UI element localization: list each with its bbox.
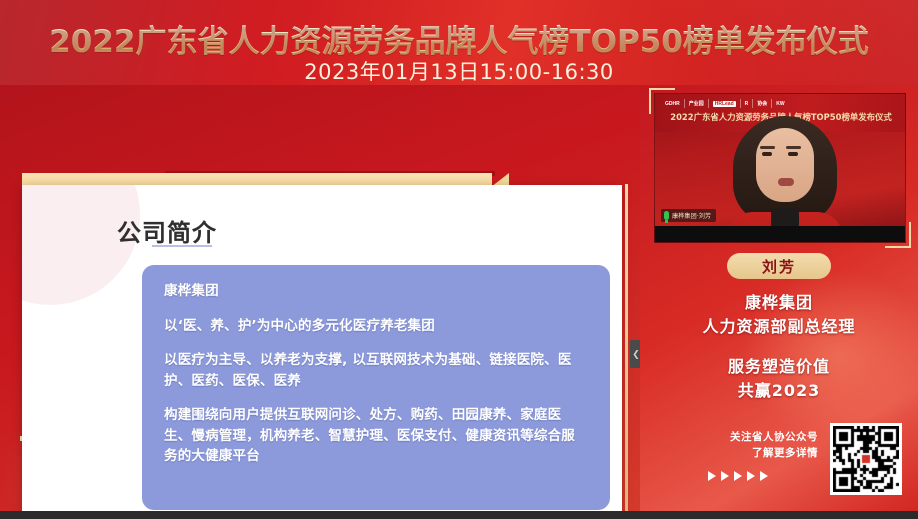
- portrait-face: [756, 128, 814, 202]
- event-slogan-line2: 共赢2023: [640, 377, 918, 401]
- qr-code[interactable]: [830, 423, 902, 495]
- speaker-video-frame[interactable]: GDHR 产业园 HRLead R 协会 KW 2022广东省人力资源劳务品牌人…: [654, 93, 906, 243]
- qr-code-canvas: [833, 426, 899, 492]
- speaker-mic-label: 康桦集团·刘芳: [661, 209, 716, 222]
- video-bottom-bar: [655, 226, 906, 242]
- slide-pane: 公司简介 康桦集团 以‘医、养、护’为中心的多元化医疗养老集团 以医疗为主导、以…: [0, 85, 640, 519]
- event-datetime: 2023年01月13日15:00-16:30: [0, 56, 918, 85]
- video-logo-association: 协会: [757, 100, 767, 107]
- presentation-slide[interactable]: 公司简介 康桦集团 以‘医、养、护’为中心的多元化医疗养老集团 以医疗为主导、以…: [22, 185, 622, 519]
- slide-content-box: 康桦集团 以‘医、养、护’为中心的多元化医疗养老集团 以医疗为主导、以养老为支撑…: [142, 265, 610, 510]
- video-banner-logos: GDHR 产业园 HRLead R 协会 KW: [665, 97, 897, 110]
- qr-instruction-text: 关注省人协公众号 了解更多详情: [658, 430, 818, 462]
- slide-title-underline: [152, 245, 212, 247]
- portrait-brow-right: [786, 146, 801, 149]
- video-logo-divider: [708, 99, 709, 108]
- microphone-icon: [664, 211, 669, 220]
- event-slogan-line1: 服务塑造价值: [640, 353, 918, 377]
- speaker-video[interactable]: GDHR 产业园 HRLead R 协会 KW 2022广东省人力资源劳务品牌人…: [654, 93, 906, 243]
- mic-label-text: 康桦集团·刘芳: [672, 211, 711, 220]
- video-logo-divider: [752, 99, 753, 108]
- speaker-pane: GDHR 产业园 HRLead R 协会 KW 2022广东省人力资源劳务品牌人…: [640, 85, 918, 519]
- portrait-brow-left: [760, 146, 775, 149]
- qr-instruction-line1: 关注省人协公众号: [658, 430, 818, 446]
- arrow-indicators: [658, 471, 818, 481]
- play-triangle-icon: [734, 471, 742, 481]
- slide-title: 公司简介: [117, 213, 217, 248]
- presentation-stage: 2022广东省人力资源劳务品牌人气榜TOP50榜单发布仪式 2023年01月13…: [0, 0, 918, 519]
- video-logo-r: R: [745, 101, 749, 107]
- speaker-company: 康桦集团: [640, 289, 918, 313]
- video-logo-divider: [740, 99, 741, 108]
- play-triangle-icon: [760, 471, 768, 481]
- video-logo-park: 产业园: [689, 100, 704, 107]
- slide-paragraph-strategy: 以医疗为主导、以养老为支撑, 以互联网技术为基础、链接医院、医护、医药、医保、医…: [164, 350, 588, 391]
- speaker-name-badge: 刘芳: [727, 253, 831, 279]
- speaker-portrait: [733, 116, 837, 238]
- play-triangle-icon: [721, 471, 729, 481]
- event-header-banner: 2022广东省人力资源劳务品牌人气榜TOP50榜单发布仪式 2023年01月13…: [0, 0, 918, 85]
- slide-paragraph-platform: 构建围绕向用户提供互联网问诊、处方、购药、田园康养、家庭医生、慢病管理，机构养老…: [164, 405, 588, 467]
- video-logo-hrlead: HRLead: [713, 101, 736, 107]
- speaker-role: 人力资源部副总经理: [640, 313, 918, 337]
- play-triangle-icon: [747, 471, 755, 481]
- portrait-mouth: [778, 178, 794, 186]
- portrait-eye-right: [788, 152, 798, 156]
- qr-instruction-line2: 了解更多详情: [658, 446, 818, 462]
- video-logo-gdhr: GDHR: [665, 101, 680, 107]
- play-triangle-icon: [708, 471, 716, 481]
- slide-collapse-handle[interactable]: ❮: [630, 340, 640, 368]
- portrait-eye-left: [762, 152, 772, 156]
- bottom-letterbox-strip: [0, 511, 918, 519]
- video-logo-divider: [771, 99, 772, 108]
- slide-paragraph-positioning: 以‘医、养、护’为中心的多元化医疗养老集团: [164, 316, 588, 337]
- slide-paragraph-company: 康桦集团: [164, 281, 588, 302]
- event-title: 2022广东省人力资源劳务品牌人气榜TOP50榜单发布仪式: [0, 16, 918, 61]
- gold-frame-line-decoration: [625, 184, 628, 519]
- video-logo-divider: [684, 99, 685, 108]
- video-logo-kw: KW: [776, 101, 784, 107]
